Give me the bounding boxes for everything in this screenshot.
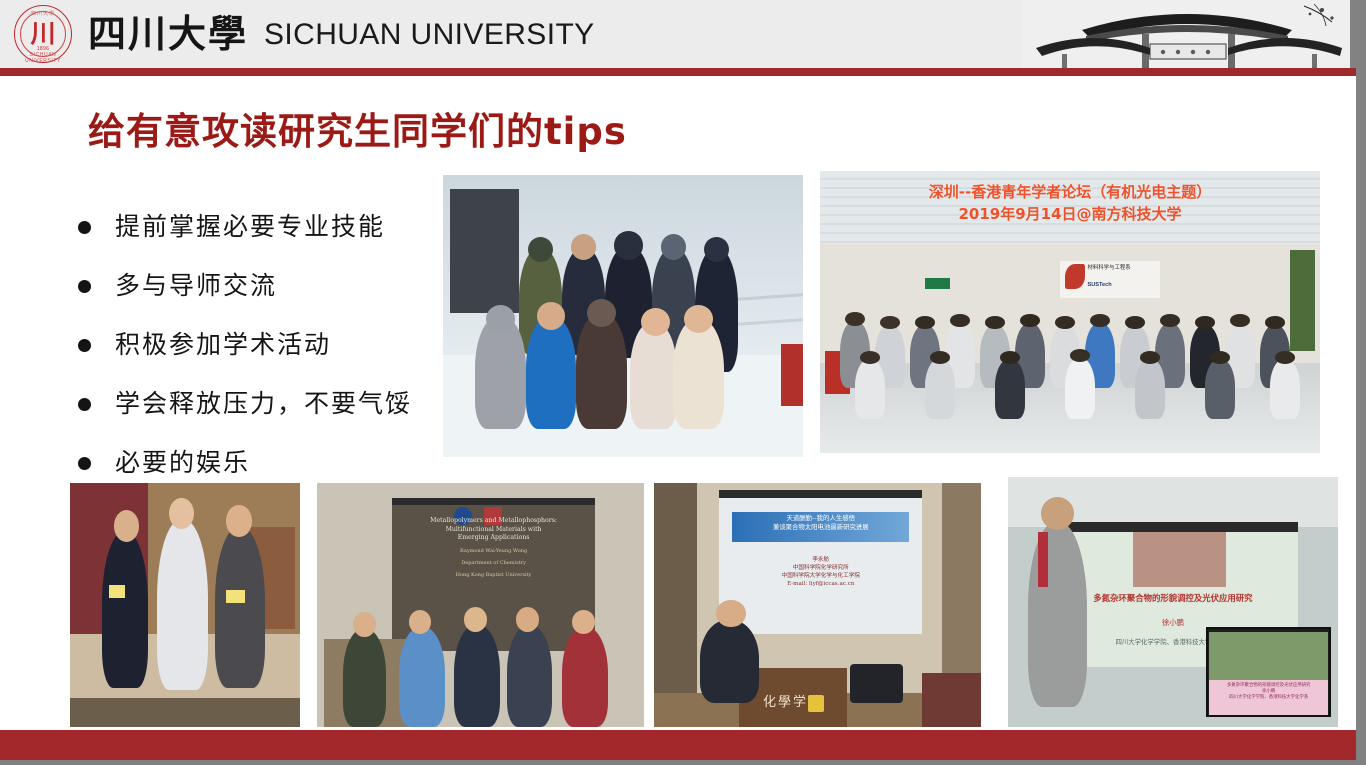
photo-crowd-front (820, 346, 1320, 431)
photo-person (700, 620, 759, 703)
photo-chair (922, 673, 981, 727)
bullet-dot-icon (78, 221, 91, 234)
photo-monitor-image (1209, 632, 1328, 682)
photo-person (630, 322, 677, 429)
photo-person-head (641, 308, 670, 336)
slide-title-line-3: Emerging Applications (402, 534, 585, 543)
photo-person-head (464, 607, 487, 631)
photo-person (576, 313, 626, 429)
university-name-chinese: 四川大學 (88, 6, 248, 62)
photo-exit-sign (925, 278, 950, 289)
slide-dept: Department of Chemistry (402, 560, 585, 567)
photo-red-box (781, 344, 803, 406)
seal-arc-top-text: 四川大學 (26, 10, 60, 17)
monitor-affiliation: 四川大学化学学院、香港科技大学化学系 (1209, 694, 1328, 700)
photo-temple-graphic (1133, 532, 1225, 587)
page-title: 给有意攻读研究生同学们的tips (88, 101, 627, 155)
photo-slide-names: 李永舫 中国科学院化学研究所 中国科学院大学化学与化工学院 E-mail: li… (739, 556, 903, 588)
photo-name-badge (109, 585, 125, 597)
presentation-slide: 四川大學 川 1896 SICHUAN UNIVERSITY 四川大學 SICH… (0, 0, 1356, 760)
slide-univ: Hong Kong Baptist University (402, 572, 585, 579)
slide-author: Raymond Wai-Yeung Wong (402, 548, 585, 555)
photo-overlay-caption: 深圳--香港青年学者论坛（有机光电主题） 2019年9月14日@南方科技大学 (820, 181, 1320, 225)
photo-person-head (226, 505, 251, 537)
photo-cup (808, 695, 824, 712)
photo-person (157, 520, 208, 691)
photo-xu-presentation: 多氮杂环聚合物的形貌调控及光伏应用研究 徐小鹏 四川大学化学学院、香港科技大学化… (1008, 477, 1338, 727)
photo-person (673, 319, 723, 429)
photo-person (526, 316, 576, 429)
photo-person-head (661, 234, 686, 259)
photo-person (102, 532, 148, 688)
university-seal-logo: 四川大學 川 1896 SICHUAN UNIVERSITY (6, 2, 72, 66)
university-name-english: SICHUAN UNIVERSITY (264, 10, 595, 60)
photo-banner-text: 材料科学与工程系 (1088, 265, 1158, 272)
photo-name-badge (226, 590, 244, 602)
photo-bag (850, 664, 902, 703)
photo-person (343, 629, 386, 727)
list-item: 学会释放压力，不要气馁 (78, 387, 458, 421)
photo-person-head (486, 305, 515, 333)
photo-wall-column (942, 483, 981, 693)
list-item-label: 必要的娱乐 (115, 446, 250, 480)
list-item-label: 积极参加学术活动 (115, 328, 331, 362)
photo-slide-banner-text: 天道酬勤--我的人生感悟 兼谈聚合物太阳电池最新研究进展 (732, 514, 909, 532)
photo-banner-subtext: SUSTech (1088, 282, 1158, 288)
photo-person (562, 627, 608, 727)
header-red-rule (0, 68, 1356, 76)
photo-signboard (450, 189, 518, 313)
list-item-label: 提前掌握必要专业技能 (115, 210, 385, 244)
list-item-label: 多与导师交流 (115, 269, 277, 303)
speaker-email: E-mail: liyf@iccas.ac.cn (739, 580, 903, 588)
photo-carpet (70, 698, 300, 727)
photo-person (399, 627, 445, 727)
gate-icon (1022, 0, 1356, 68)
photo-three-people (70, 483, 300, 727)
photo-person-head (1041, 497, 1074, 530)
photo-person-head (114, 510, 139, 542)
photo-five-people-lecture: Metallopolymers and Metallophosphors: Mu… (317, 483, 644, 727)
paifang-gate-illustration (1022, 0, 1356, 68)
overlay-line-2: 2019年9月14日@南方科技大学 (820, 203, 1320, 225)
photo-lanyard (1038, 532, 1048, 587)
window-scrollbar[interactable] (1356, 0, 1366, 765)
speaker-inst-2: 中国科学院大学化学与化工学院 (739, 572, 903, 580)
photo-monitor-slide-text: 多氮杂环聚合物的形貌调控及光伏应用研究 徐小鹏 四川大学化学学院、香港科技大学化… (1209, 682, 1328, 700)
photo-person (454, 625, 500, 727)
photo-person-head (684, 305, 713, 333)
photo-person-head (528, 237, 553, 262)
photo-wall-column (654, 483, 697, 693)
photo-slide-text: Metallopolymers and Metallophosphors: Mu… (402, 517, 585, 579)
photo-snow-group (443, 175, 803, 457)
photo-person-head (716, 600, 745, 627)
photo-slide-title: 多氮杂环聚合物的形貌调控及光伏应用研究 (1054, 592, 1292, 604)
photo-person (475, 316, 525, 429)
overlay-line-1: 深圳--香港青年学者论坛（有机光电主题） (820, 181, 1320, 203)
slide-title-line-1: Metallopolymers and Metallophosphors: (402, 517, 585, 526)
banner-line-2: 兼谈聚合物太阳电池最新研究进展 (732, 523, 909, 532)
photo-person-head (353, 612, 376, 636)
photo-person (507, 625, 553, 727)
banner-line-1: 天道酬勤--我的人生感悟 (732, 514, 909, 523)
slide-header: 四川大學 川 1896 SICHUAN UNIVERSITY 四川大學 SICH… (0, 0, 1356, 68)
list-item: 积极参加学术活动 (78, 328, 458, 362)
photo-lecture-hall: 天道酬勤--我的人生感悟 兼谈聚合物太阳电池最新研究进展 李永舫 中国科学院化学… (654, 483, 981, 727)
photo-person-head (587, 299, 616, 327)
slide-title-line-2: Multifunctional Materials with (402, 526, 585, 535)
bullet-dot-icon (78, 398, 91, 411)
photo-sustech-forum: 材料科学与工程系 SUSTech (820, 171, 1320, 453)
photo-person (215, 527, 266, 688)
bullet-dot-icon (78, 339, 91, 352)
speaker-name: 李永舫 (739, 556, 903, 564)
seal-arc-bottom-text: SICHUAN UNIVERSITY (20, 52, 66, 64)
list-item-label: 学会释放压力，不要气馁 (115, 387, 412, 421)
tips-bullet-list: 提前掌握必要专业技能 多与导师交流 积极参加学术活动 学会释放压力，不要气馁 必… (78, 210, 458, 505)
footer-red-bar (0, 730, 1356, 760)
photo-person-head (572, 610, 595, 634)
speaker-inst-1: 中国科学院化学研究所 (739, 564, 903, 572)
list-item: 必要的娱乐 (78, 446, 458, 480)
list-item: 提前掌握必要专业技能 (78, 210, 458, 244)
list-item: 多与导师交流 (78, 269, 458, 303)
photo-person-head (614, 231, 643, 259)
photo-person-head (571, 234, 596, 259)
bullet-dot-icon (78, 280, 91, 293)
bullet-dot-icon (78, 457, 91, 470)
